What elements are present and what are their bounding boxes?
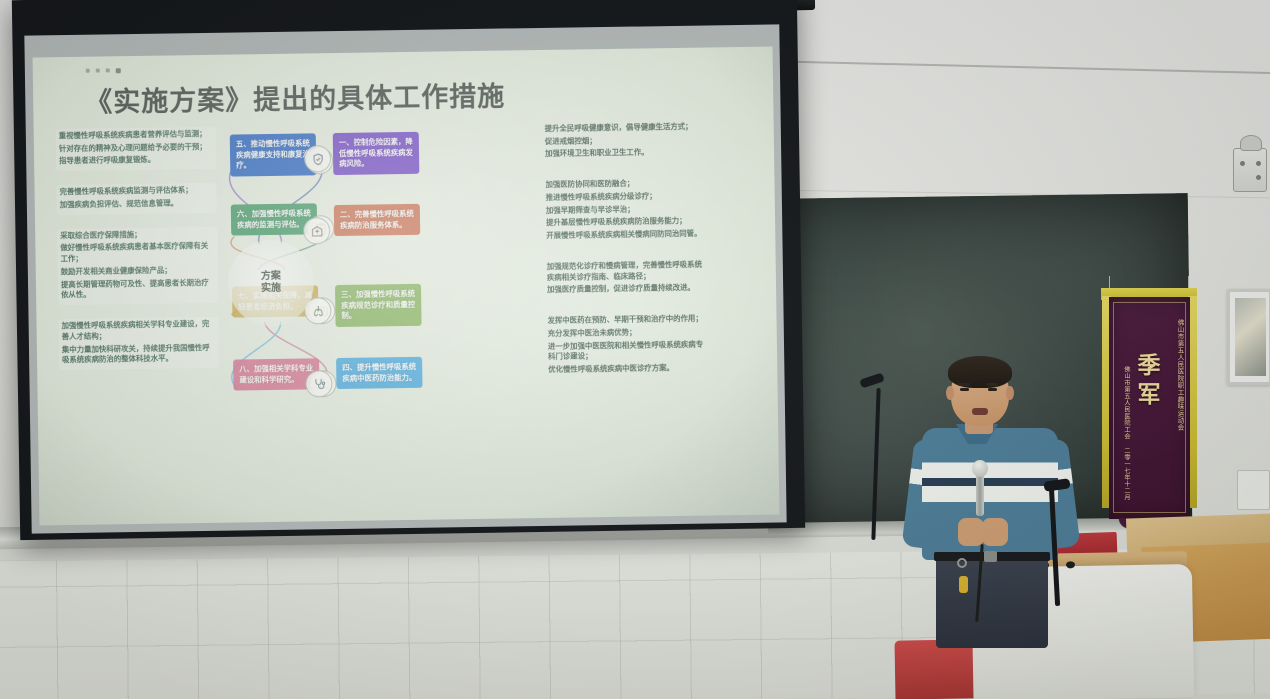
presenter-trousers xyxy=(936,556,1048,648)
detail-block-7: 采取综合医疗保障措施； 做好慢性呼吸系统疾病患者基本医疗保障有关工作； 鼓励开发… xyxy=(57,226,218,305)
presenter-belt-buckle xyxy=(984,551,997,562)
detail-block-5: 重视慢性呼吸系统疾病患者营养评估与监测； 针对存在的精神及心理问题给予必要的干预… xyxy=(56,127,217,172)
speaker-bell-icon xyxy=(1240,135,1262,151)
presenter-eye-right xyxy=(988,388,997,391)
presenter-hand-right xyxy=(982,518,1008,546)
detail-block-3: 加强规范化诊疗和慢病管理，完善慢性呼吸系统疾病相关诊疗指南、临床路径； 加强医疗… xyxy=(544,257,710,300)
presenter-brow-left xyxy=(958,383,970,386)
keychain xyxy=(956,558,970,596)
handheld-microphone xyxy=(976,472,984,516)
mindmap-node-4[interactable]: 四、提升慢性呼吸系统疾病中医药防治能力。 xyxy=(336,357,422,389)
microphone-head-icon xyxy=(972,460,988,477)
detail-block-2: 加强医防协同和医防融合； 推进慢性呼吸系统疾病分级诊疗； 加强早期筛查与早诊早治… xyxy=(542,176,708,246)
banner-left-column-text: 佛山市第五人民医院工会 二零一七年十二月 xyxy=(1118,366,1129,501)
presenter-mouth xyxy=(972,408,988,415)
detail-block-4: 发挥中医药在预防、早期干预和治疗中的作用； 充分发挥中医治未病优势； 进一步加强… xyxy=(544,312,710,380)
mindmap-node-1[interactable]: 一、控制危险因素，降低慢性呼吸系统疾病发病风险。 xyxy=(333,132,420,175)
left-detail-column: 重视慢性呼吸系统疾病患者营养评估与监测； 针对存在的精神及心理问题给予必要的干预… xyxy=(56,127,220,384)
presenter-ear-left xyxy=(946,386,954,400)
wall-speaker-icon xyxy=(1233,148,1267,192)
mindmap-node-2[interactable]: 二、完善慢性呼吸系统疾病防治服务体系。 xyxy=(334,204,420,236)
right-detail-column: 提升全民呼吸健康意识，倡导健康生活方式； 促进戒烟控烟； 加强环境卫生和职业卫生… xyxy=(542,120,711,394)
banner-main-text: 季军 xyxy=(1135,352,1163,410)
presenter-brow-right xyxy=(986,383,998,386)
red-stool xyxy=(894,639,973,699)
wall-outlet[interactable] xyxy=(1237,470,1270,510)
presentation-slide: 《实施方案》提出的具体工作措施 重视慢性呼吸系统疾病患者营养评估与监测； 针对存… xyxy=(33,47,780,526)
award-banner: 佛山市第五人民医院职工趣味运动会 季军 佛山市第五人民医院工会 二零一七年十二月 xyxy=(1109,297,1190,519)
presenter xyxy=(900,358,1080,648)
center-node-label: 方案实施 xyxy=(258,270,284,295)
detail-block-6: 完善慢性呼吸系统疾病监测与评估体系； 加强疾病负担评估、规范信息管理。 xyxy=(56,183,216,215)
panel-glass xyxy=(1235,298,1266,376)
detail-block-8: 加强慢性呼吸系统疾病相关学科专业建设，完善人才结构； 集中力量加快科研攻关，持续… xyxy=(58,317,219,370)
presenter-hand-left xyxy=(958,518,984,546)
lecture-hall-scene: 佛山市第五人民医院职工趣味运动会 季军 佛山市第五人民医院工会 二零一七年十二月… xyxy=(0,0,1270,699)
electrical-panel[interactable] xyxy=(1227,289,1270,385)
mindmap-node-5[interactable]: 五、推动慢性呼吸系统疾病健康支持和康复治疗。 xyxy=(230,133,317,176)
presenter-eye-left xyxy=(960,388,969,391)
banner-right-column-text: 佛山市第五人民医院职工趣味运动会 xyxy=(1172,319,1183,431)
detail-block-1: 提升全民呼吸健康意识，倡导健康生活方式； 促进戒烟控烟； 加强环境卫生和职业卫生… xyxy=(542,120,708,165)
presenter-ear-right xyxy=(1006,386,1014,400)
mindmap-node-3[interactable]: 三、加强慢性呼吸系统疾病规范诊疗和质量控制。 xyxy=(335,284,422,327)
